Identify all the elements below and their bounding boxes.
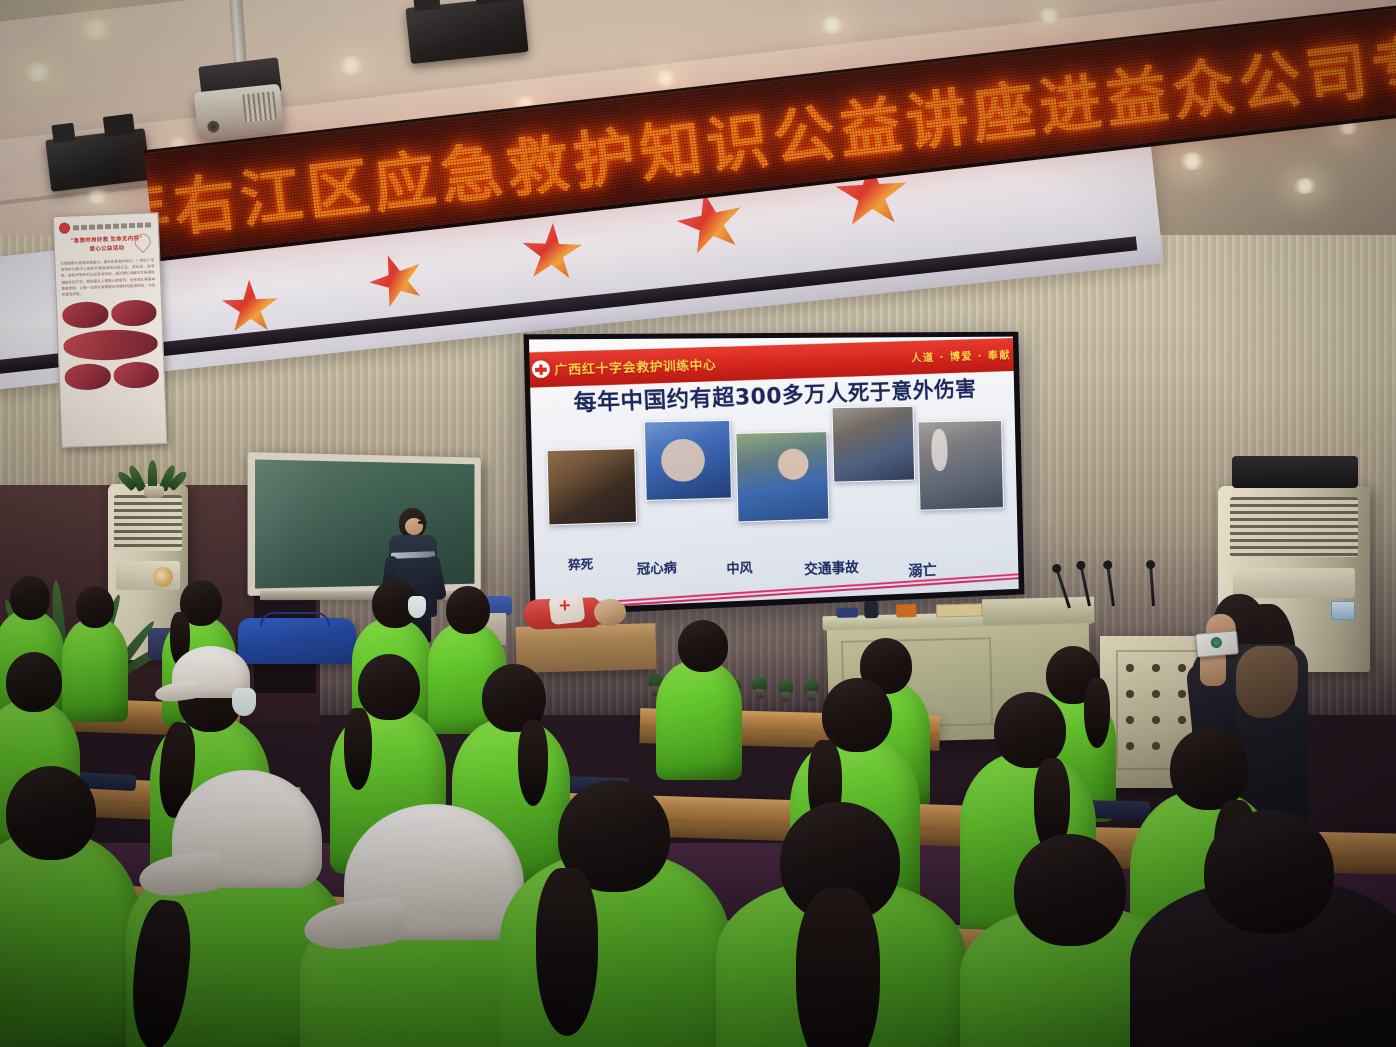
photographer-scarf [1236, 646, 1298, 718]
podium-item-bottle [864, 601, 878, 618]
slide-photo-row [541, 405, 1008, 547]
poster-photo [113, 362, 159, 390]
downlight-icon [1036, 8, 1062, 24]
ac-grille [114, 495, 181, 551]
poster-logo [59, 219, 153, 234]
manikin-head [594, 598, 627, 626]
downlight-icon [1178, 152, 1206, 170]
downlight-icon [78, 18, 114, 40]
lecture-hall-scene: 2020年右江区应急救护知识公益讲座进益众公司专场培训 "急救时尚好救 生命无内… [0, 0, 1396, 1047]
slide-caption-heart-disease: 冠心病 [637, 556, 677, 577]
downlight-icon [818, 16, 846, 34]
slide-photo-drowning-rescue [918, 420, 1004, 511]
blue-duffel-bag [238, 618, 356, 664]
podium-item-box [896, 604, 916, 617]
star-decoration-icon [361, 246, 432, 316]
downlight-icon [22, 62, 54, 82]
audience-head [6, 652, 62, 712]
red-cross-logo-icon [59, 222, 70, 233]
ponytail [536, 868, 598, 1036]
downlight-icon [652, 70, 679, 87]
poster-logo-wordmark [73, 222, 153, 230]
ac-energy-label [1331, 601, 1355, 620]
poster-photo [62, 301, 108, 329]
projector-lens-icon [207, 120, 220, 133]
audience-head [6, 766, 96, 860]
audience-head [446, 586, 490, 634]
slide-caption-stroke: 中风 [726, 557, 752, 577]
face-mask [408, 596, 426, 618]
audience-head [76, 586, 114, 628]
ponytail [1084, 678, 1110, 748]
wall-poster: "急救时尚好救 生命无内容" 爱心公益活动 为提高群众自救互救能力，普及应急救护… [53, 212, 168, 448]
ceiling-projector [194, 84, 285, 141]
smartphone-icon[interactable] [1195, 630, 1239, 658]
star-decoration-icon [520, 222, 584, 284]
chalkboard [248, 452, 481, 596]
ponytail [796, 888, 880, 1047]
audience-member-foreground [716, 880, 966, 1047]
projection-screen: 广西红十字会救护训练中心 人道 · 博爱 · 奉献 每年中国约有超300多万人死… [524, 332, 1025, 616]
slide-photo-street-accident [832, 406, 915, 482]
small-potted-plant [752, 677, 767, 699]
slide-caption-traffic-accident: 交通事故 [804, 557, 859, 579]
poster-photo-grid [62, 300, 159, 392]
green-uniform [0, 832, 140, 1047]
audience-member-foreground [0, 832, 140, 1047]
slide-photo-crowd-collapse [547, 448, 637, 525]
poster-photo [63, 329, 158, 363]
ac-top-cover [1232, 456, 1358, 488]
ac-brand-logo-icon [153, 567, 173, 587]
presentation-slide: 广西红十字会救护训练中心 人道 · 博爱 · 奉献 每年中国约有超300多万人死… [529, 337, 1019, 610]
downlight-icon [84, 188, 110, 204]
downlight-icon [1292, 178, 1318, 194]
training-center-name: 广西红十字会救护训练中心 [554, 354, 717, 379]
slide-photo-stroke-couple [735, 431, 830, 522]
audience-head [10, 576, 50, 620]
ponytail [344, 708, 372, 790]
small-potted-plant [804, 679, 819, 701]
red-cross-motto: 人道 · 博爱 · 奉献 [911, 346, 1011, 365]
poster-body-text: 为提高群众自救互救能力，普及应急救护知识，广西红十字会救护训练中心组织开展急救知… [60, 257, 155, 298]
cpr-training-manikin [523, 590, 628, 632]
ponytail [518, 720, 548, 806]
audience-head [994, 692, 1066, 768]
small-potted-plant [778, 680, 793, 702]
audience-head [1014, 834, 1126, 946]
audience-member [656, 660, 742, 780]
projector-vents [242, 91, 277, 122]
audience-head [358, 654, 420, 720]
ac-grille [1230, 497, 1358, 557]
red-cross-icon [532, 360, 551, 378]
audience-member-foreground [1130, 880, 1396, 1047]
audience-head [1170, 728, 1248, 810]
red-cross-icon [560, 600, 570, 610]
podium-item-papers [936, 603, 982, 617]
audience-head [1204, 810, 1334, 934]
audience-head [678, 620, 728, 672]
podium-item-pouch [836, 607, 858, 618]
poster-photo [64, 363, 110, 391]
star-decoration-icon [220, 279, 280, 337]
audience-member-foreground [500, 852, 730, 1047]
poster-photo [110, 300, 156, 328]
headset-mic-icon [418, 521, 427, 524]
plant-pot [144, 486, 164, 498]
green-uniform [656, 660, 742, 780]
slide-photo-chest-pain [644, 420, 732, 501]
potted-plant-on-ac [124, 452, 180, 494]
slide-caption-drowning: 溺亡 [908, 559, 937, 581]
face-mask [232, 688, 256, 716]
slide-caption-sudden-death: 猝死 [568, 555, 594, 573]
downlight-icon [336, 56, 366, 75]
